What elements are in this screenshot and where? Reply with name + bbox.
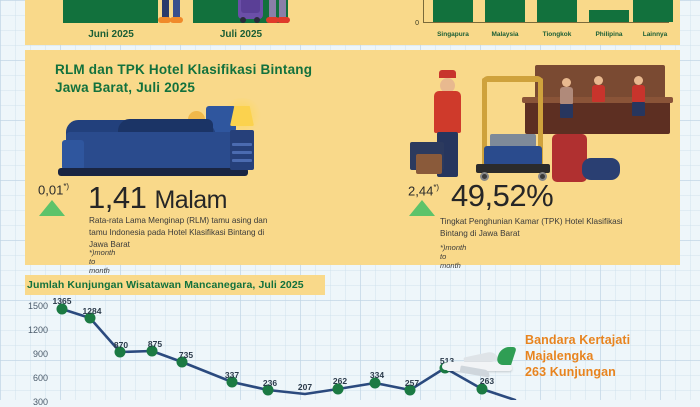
airplane-icon: [440, 345, 520, 385]
rlm-unit: Malam: [154, 186, 227, 214]
rlm-delta-value: 0,01: [38, 182, 63, 197]
rlm-number: 1,41: [88, 180, 146, 215]
suitcase-brown: [416, 154, 442, 174]
bar-tiongkok: [537, 0, 577, 22]
value-label: 1284: [83, 306, 102, 316]
bar-singapura: [433, 0, 473, 22]
hotel-lobby-illustration: [410, 60, 670, 185]
y-axis-line: [423, 0, 424, 23]
top-left-bar-chart: Juni 2025 Juli 2025: [60, 0, 310, 45]
bellhop-hat: [439, 70, 456, 78]
rlm-up-triangle-icon: [39, 200, 65, 216]
rlm-value: 1,41 Malam: [88, 180, 227, 216]
luggage-cart-base: [476, 164, 550, 173]
bed-frame: [66, 132, 238, 170]
bar-malaysia: [485, 0, 525, 22]
airport-callout-line-2: Majalengka: [525, 348, 630, 364]
cat-label-singapura: Singapura: [426, 31, 480, 38]
bar-label-juni: Juni 2025: [56, 29, 166, 40]
tpk-footnote: *)month to month: [440, 243, 466, 270]
value-label: 207: [298, 382, 312, 392]
bar-juni: [63, 0, 158, 23]
value-label: 257: [405, 378, 419, 388]
drawer-icon: [232, 151, 252, 154]
drawer-icon: [232, 159, 252, 162]
bottom-section-title: Jumlah Kunjungan Wisatawan Mancanegara, …: [27, 279, 304, 291]
value-label: 262: [333, 376, 347, 386]
rlm-description: Rata-rata Lama Menginap (RLM) tamu asing…: [89, 215, 279, 251]
duffel-bag: [582, 158, 620, 180]
airport-callout-line-3: 263 Kunjungan: [525, 364, 630, 380]
rlm-delta: 0,01*): [38, 182, 69, 197]
tpk-value: 49,52%: [451, 178, 553, 214]
airplane-tail: [495, 347, 517, 365]
airplane-nose: [442, 363, 454, 370]
value-label: 870: [114, 340, 128, 350]
drawer-icon: [232, 143, 252, 146]
value-label: 875: [148, 339, 162, 349]
traveler-illustration-1: [158, 0, 184, 23]
airport-callout: Bandara Kertajati Majalengka 263 Kunjung…: [525, 332, 630, 380]
reception-desk: [525, 100, 670, 134]
tpk-delta-sup: *): [433, 183, 439, 192]
cart-bag-bottom: [484, 146, 542, 166]
tpk-number: 49,52%: [451, 178, 553, 213]
value-label: 337: [225, 370, 239, 380]
rlm-footnote: *)month to month: [89, 248, 115, 275]
middle-title-line-2: Jawa Barat, Juli 2025: [55, 79, 312, 97]
bar-label-juli: Juli 2025: [186, 29, 296, 40]
bed-footboard: [62, 140, 84, 170]
x-axis-line: [423, 22, 669, 23]
cat-label-malaysia: Malaysia: [478, 31, 532, 38]
value-label: 1365: [53, 296, 72, 306]
tpk-description: Tingkat Penghunian Kamar (TPK) Hotel Kla…: [440, 216, 640, 240]
rlm-delta-sup: *): [63, 182, 69, 191]
cat-label-lainnya: Lainnya: [628, 31, 682, 38]
y-tick-0: 0: [399, 20, 419, 27]
bed-base: [58, 168, 248, 176]
value-label: 334: [370, 370, 384, 380]
nightstand: [230, 130, 254, 170]
cat-label-tiongkok: Tiongkok: [530, 31, 584, 38]
bed-illustration: [58, 98, 258, 176]
suitcase-illustration: [238, 0, 264, 23]
suitcase-red: [552, 134, 587, 182]
tpk-delta: 2,44*): [408, 183, 439, 198]
value-label: 236: [263, 378, 277, 388]
tpk-delta-value: 2,44: [408, 183, 433, 198]
bellhop-uniform: [434, 91, 461, 133]
airport-callout-line-1: Bandara Kertajati: [525, 332, 630, 348]
luggage-cart-arch: [482, 76, 543, 82]
value-label: 735: [179, 350, 193, 360]
middle-section-title: RLM dan TPK Hotel Klasifikasi Bintang Ja…: [55, 61, 312, 97]
bar-lainnya: [633, 0, 673, 22]
bar-philipina: [589, 10, 629, 22]
tpk-up-triangle-icon: [409, 200, 435, 216]
traveler-illustration-2: [266, 0, 290, 23]
top-right-bar-chart: 20 0 21 14 6 Singapura Malaysia Tiongkok…: [385, 0, 675, 45]
middle-title-line-1: RLM dan TPK Hotel Klasifikasi Bintang: [55, 61, 312, 79]
